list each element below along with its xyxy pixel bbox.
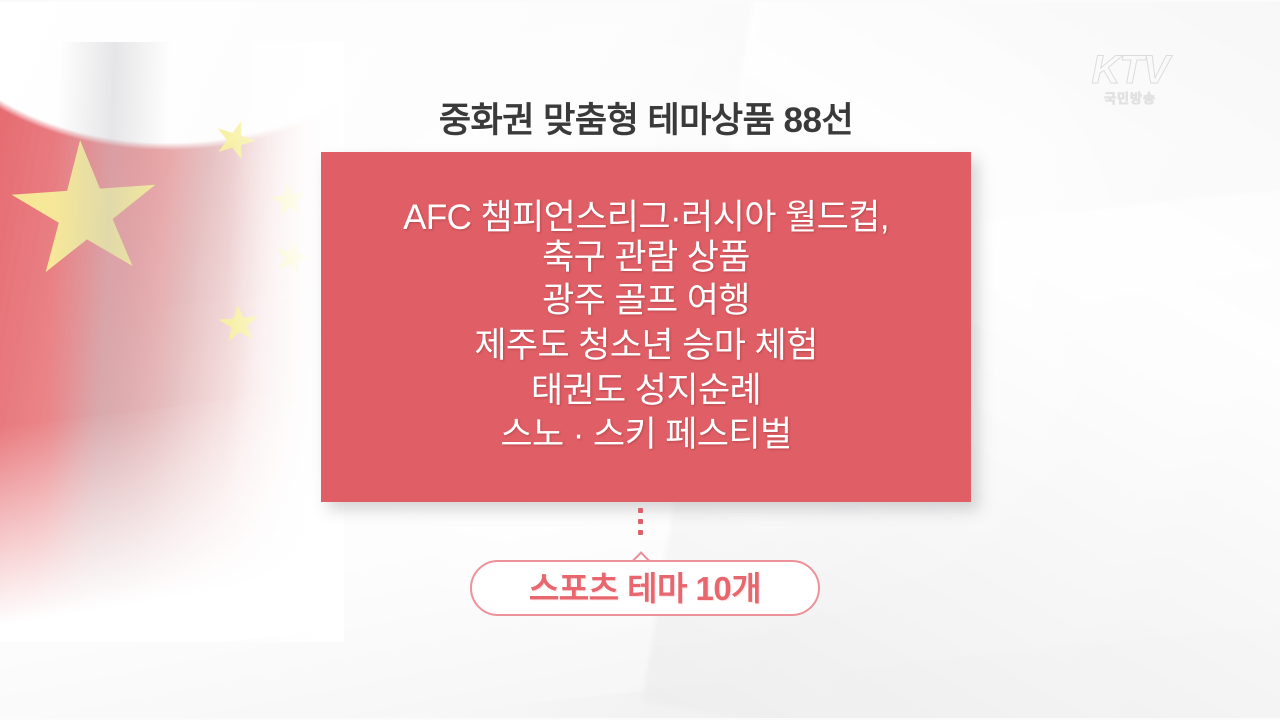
callout-label: 스포츠 테마 10개	[529, 572, 761, 605]
china-flag-graphic	[0, 42, 344, 642]
theme-list-item: 태권도 성지순례	[531, 369, 761, 414]
ellipsis-connector-icon	[636, 508, 644, 552]
theme-list-item: 제주도 청소년 승마 체험	[474, 324, 817, 369]
flag-fade-bottom	[0, 388, 344, 642]
theme-list-panel: AFC 챔피언스리그·러시아 월드컵, 축구 관람 상품 광주 골프 여행 제주…	[321, 152, 971, 502]
theme-list-item: AFC 챔피언스리그·러시아 월드컵,	[403, 198, 889, 239]
connector-dot	[638, 530, 643, 535]
broadcast-graphic-slide: 중화권 맞춤형 테마상품 88선 AFC 챔피언스리그·러시아 월드컵, 축구 …	[0, 0, 1280, 720]
theme-list-item: 스노 · 스키 페스티벌	[500, 413, 791, 458]
theme-list-item: 축구 관람 상품	[542, 238, 750, 279]
sports-theme-callout: 스포츠 테마 10개	[470, 560, 820, 616]
page-title: 중화권 맞춤형 테마상품 88선	[321, 92, 971, 143]
frame-edge-top	[0, 0, 1280, 2]
theme-list-item: 광주 골프 여행	[542, 279, 750, 324]
connector-dot	[638, 519, 643, 524]
connector-dot	[638, 508, 643, 513]
